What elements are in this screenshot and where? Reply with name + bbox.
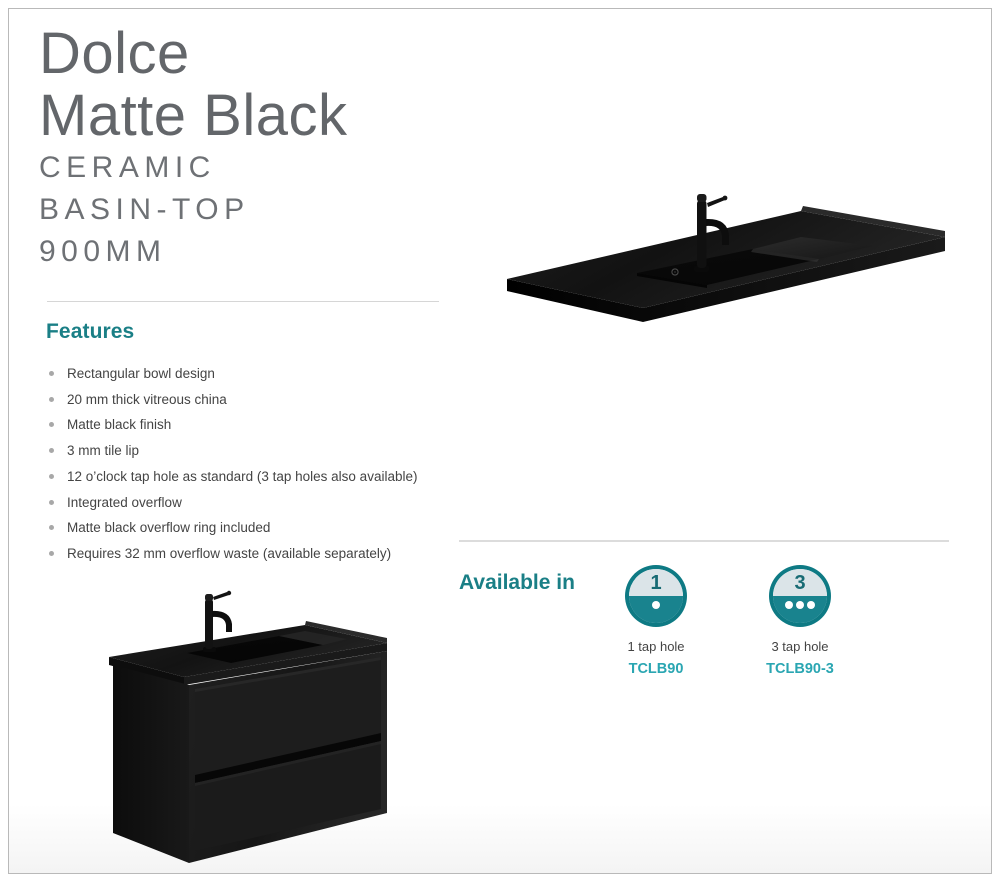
tap-hole-option-1[interactable]: 1 1 tap hole TCLB90 [596, 565, 716, 678]
feature-item: 20 mm thick vitreous china [47, 387, 467, 413]
feature-text: 20 mm thick vitreous china [67, 392, 227, 407]
product-code[interactable]: TCLB90-3 [740, 660, 860, 678]
datasheet-page: Dolce Matte Black CERAMIC BASIN-TOP 900M… [8, 8, 992, 874]
feature-text: Matte black finish [67, 417, 171, 432]
vanity-product-image [91, 581, 403, 874]
features-list: Rectangular bowl design 20 mm thick vitr… [47, 361, 467, 567]
bullet-icon [49, 500, 54, 505]
hole-dot-icon [652, 601, 660, 609]
tap-hole-label: 3 tap hole [740, 638, 860, 655]
hole-dot-icon [796, 601, 804, 609]
features-heading: Features [46, 320, 134, 344]
tap-hole-label: 1 tap hole [596, 638, 716, 655]
feature-item: Rectangular bowl design [47, 361, 467, 387]
page-background: Dolce Matte Black CERAMIC BASIN-TOP 900M… [0, 0, 1000, 882]
tap-hole-badge-icon: 1 [625, 565, 687, 627]
badge-hole-dots [773, 601, 827, 609]
bullet-icon [49, 525, 54, 530]
available-in-heading: Available in [459, 571, 575, 595]
feature-item: Matte black finish [47, 412, 467, 438]
feature-text: Integrated overflow [67, 495, 182, 510]
badge-hole-dots [629, 601, 683, 609]
feature-item: Requires 32 mm overflow waste (available… [47, 541, 467, 567]
feature-text: Matte black overflow ring included [67, 520, 270, 535]
page-subtitle-line-3: 900MM [39, 231, 449, 273]
page-title-line-1: Dolce [39, 23, 449, 85]
feature-text: 3 mm tile lip [67, 443, 139, 458]
feature-text: 12 o’clock tap hole as standard (3 tap h… [67, 469, 417, 484]
hole-dot-icon [807, 601, 815, 609]
hole-dot-icon [785, 601, 793, 609]
bullet-icon [49, 371, 54, 376]
bullet-icon [49, 474, 54, 479]
available-divider [459, 540, 949, 542]
bullet-icon [49, 422, 54, 427]
badge-number: 1 [629, 570, 683, 596]
basin-product-image [501, 167, 963, 339]
feature-item: 3 mm tile lip [47, 438, 467, 464]
tap-hole-option-3[interactable]: 3 3 tap hole TCLB90-3 [740, 565, 860, 678]
bullet-icon [49, 448, 54, 453]
product-code[interactable]: TCLB90 [596, 660, 716, 678]
page-title-block: Dolce Matte Black CERAMIC BASIN-TOP 900M… [39, 23, 449, 273]
page-title-line-2: Matte Black [39, 85, 449, 147]
badge-inner: 1 [629, 569, 683, 623]
badge-number: 3 [773, 570, 827, 596]
feature-item: 12 o’clock tap hole as standard (3 tap h… [47, 464, 467, 490]
tap-hole-badge-icon: 3 [769, 565, 831, 627]
title-divider [47, 301, 439, 302]
badge-inner: 3 [773, 569, 827, 623]
bullet-icon [49, 397, 54, 402]
bullet-icon [49, 551, 54, 556]
feature-item: Integrated overflow [47, 490, 467, 516]
page-subtitle-line-1: CERAMIC [39, 147, 449, 189]
feature-item: Matte black overflow ring included [47, 515, 467, 541]
feature-text: Requires 32 mm overflow waste (available… [67, 546, 391, 561]
feature-text: Rectangular bowl design [67, 366, 215, 381]
page-subtitle-line-2: BASIN-TOP [39, 189, 449, 231]
